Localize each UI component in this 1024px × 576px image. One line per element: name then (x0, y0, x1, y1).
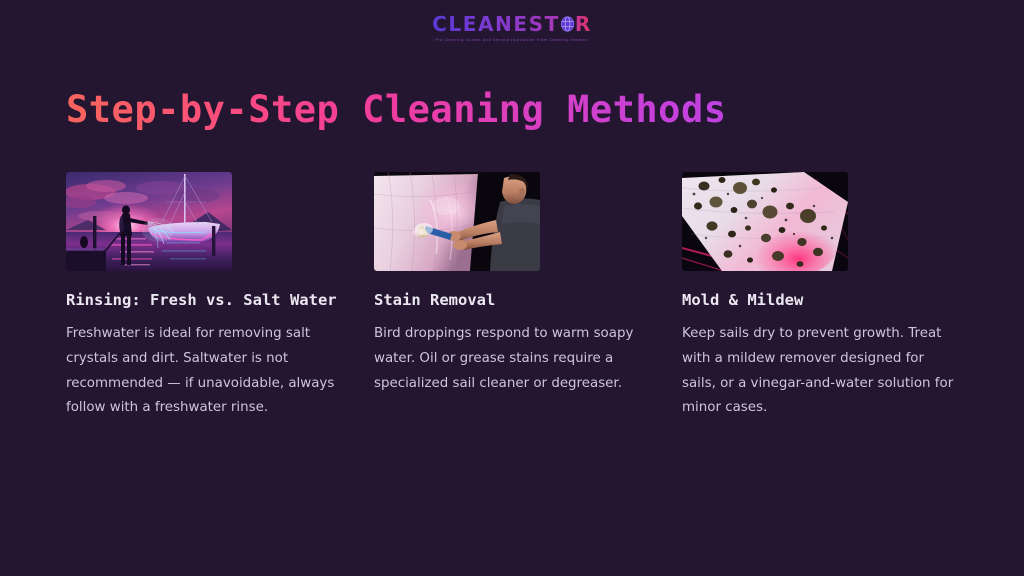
mold-mildew-on-sail-photo (682, 172, 848, 271)
page-title: Step-by-Step Cleaning Methods (66, 88, 727, 132)
brand-name-part2: R (575, 14, 592, 34)
method-card: Rinsing: Fresh vs. Salt Water Freshwater… (66, 172, 342, 421)
globe-icon (560, 16, 575, 32)
brand-wordmark: CLEANEST R (432, 14, 592, 34)
brand-logo: CLEANEST R Pro Cleaning Guides And Servi… (0, 14, 1024, 42)
brand-name-part1: CLEANEST (432, 14, 560, 34)
card-title: Stain Removal (374, 289, 650, 311)
brand-tagline: Pro Cleaning Guides And Service Journali… (435, 38, 588, 42)
method-card-list: Rinsing: Fresh vs. Salt Water Freshwater… (66, 172, 958, 421)
card-body: Keep sails dry to prevent growth. Treat … (682, 322, 958, 420)
sailboat-rinsing-at-dock-photo (66, 172, 232, 271)
card-title: Rinsing: Fresh vs. Salt Water (66, 289, 342, 311)
method-card: Mold & Mildew Keep sails dry to prevent … (682, 172, 958, 421)
card-body: Freshwater is ideal for removing salt cr… (66, 322, 342, 420)
method-card: Stain Removal Bird droppings respond to … (374, 172, 650, 421)
card-body: Bird droppings respond to warm soapy wat… (374, 322, 650, 396)
card-title: Mold & Mildew (682, 289, 958, 311)
scrubbing-sail-stain-photo (374, 172, 540, 271)
